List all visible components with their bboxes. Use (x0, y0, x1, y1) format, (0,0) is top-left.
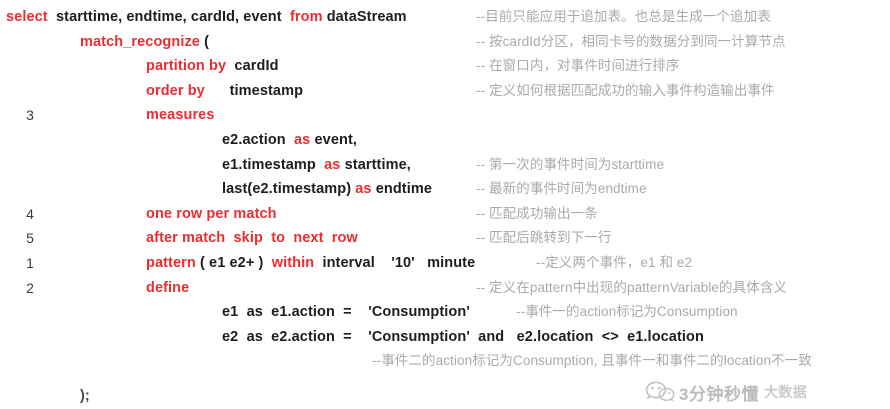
sql-identifier: dataStream (323, 9, 407, 25)
code-text: measures (146, 103, 215, 127)
sql-identifier: e2.action (222, 132, 294, 148)
sql-comment: -- 最新的事件时间为endtime (476, 177, 647, 201)
code-line[interactable]: e1.timestamp as starttime,-- 第一次的事件时间为st… (0, 153, 890, 177)
sql-keyword: within (272, 255, 314, 271)
sql-identifier: endtime (372, 181, 432, 197)
sql-keyword: order by (146, 83, 205, 99)
code-line[interactable]: 5after match skip to next row-- 匹配后跳转到下一… (0, 226, 890, 250)
code-text: order by timestamp (146, 79, 303, 103)
code-text: e2 as e2.action = 'Consumption' and e2.l… (222, 325, 704, 349)
sql-keyword: pattern (146, 255, 196, 271)
code-text: select starttime, endtime, cardId, event… (6, 5, 407, 29)
sql-keyword: as (355, 181, 371, 197)
code-screenshot: select starttime, endtime, cardId, event… (0, 0, 890, 409)
sql-keyword: match_recognize (80, 34, 200, 50)
sql-identifier: e2 as e2.action = 'Consumption' and e2.l… (222, 329, 704, 345)
sql-keyword: define (146, 280, 189, 296)
sql-keyword: partition by (146, 58, 226, 74)
code-text: after match skip to next row (146, 226, 358, 250)
line-number: 5 (0, 226, 34, 250)
code-line[interactable]: select starttime, endtime, cardId, event… (0, 5, 890, 29)
code-text: e1.timestamp as starttime, (222, 153, 411, 177)
sql-identifier: interval '10' minute (314, 255, 475, 271)
sql-keyword: after match skip to next row (146, 230, 358, 246)
sql-identifier: ( e1 e2+ ) (196, 255, 272, 271)
code-text: e1 as e1.action = 'Consumption' (222, 300, 470, 324)
sql-comment: -- 匹配成功输出一条 (476, 202, 598, 226)
sql-comment: -- 第一次的事件时间为starttime (476, 153, 664, 177)
sql-identifier: event, (310, 132, 357, 148)
sql-comment: --事件二的action标记为Consumption, 且事件一和事件二的loc… (372, 349, 812, 373)
sql-identifier: starttime, endtime, cardId, event (48, 9, 290, 25)
code-line[interactable]: e2 as e2.action = 'Consumption' and e2.l… (0, 325, 890, 349)
sql-comment: -- 匹配后跳转到下一行 (476, 226, 611, 250)
sql-keyword: select (6, 9, 48, 25)
code-line[interactable]: order by timestamp-- 定义如何根据匹配成功的输入事件构造输出… (0, 79, 890, 103)
sql-comment: --事件一的action标记为Consumption (516, 300, 738, 324)
sql-comment: -- 定义在pattern中出现的patternVariable的具体含义 (476, 276, 787, 300)
code-text: e2.action as event, (222, 128, 357, 152)
code-line[interactable]: partition by cardId-- 在窗口内，对事件时间进行排序 (0, 54, 890, 78)
sql-keyword: as (294, 132, 310, 148)
sql-identifier: last(e2.timestamp) (222, 181, 355, 197)
code-text: last(e2.timestamp) as endtime (222, 177, 432, 201)
code-text: define (146, 276, 189, 300)
code-line[interactable]: match_recognize (-- 按cardId分区，相同卡号的数据分到同… (0, 30, 890, 54)
sql-comment: --定义两个事件，e1 和 e2 (536, 251, 692, 275)
line-number: 1 (0, 251, 34, 275)
code-editor[interactable]: select starttime, endtime, cardId, event… (0, 0, 890, 409)
line-number: 2 (0, 276, 34, 300)
sql-identifier: starttime, (340, 157, 410, 173)
code-line[interactable]: e1 as e1.action = 'Consumption'--事件一的act… (0, 300, 890, 324)
sql-keyword: one row per match (146, 206, 277, 222)
sql-comment: -- 定义如何根据匹配成功的输入事件构造输出事件 (476, 79, 775, 103)
line-number: 3 (0, 103, 34, 127)
code-line[interactable]: 1pattern ( e1 e2+ ) within interval '10'… (0, 251, 890, 275)
code-text: match_recognize ( (80, 30, 209, 54)
sql-identifier: e1.timestamp (222, 157, 324, 173)
closing-paren: ); (80, 388, 90, 404)
code-line[interactable]: 3measures (0, 103, 890, 127)
sql-keyword: measures (146, 107, 215, 123)
sql-keyword: as (324, 157, 340, 173)
sql-identifier: timestamp (205, 83, 303, 99)
code-text: pattern ( e1 e2+ ) within interval '10' … (146, 251, 475, 275)
code-line[interactable]: e2.action as event, (0, 128, 890, 152)
sql-comment: -- 按cardId分区，相同卡号的数据分到同一计算节点 (476, 30, 786, 54)
sql-keyword: from (290, 9, 323, 25)
sql-identifier: e1 as e1.action = 'Consumption' (222, 304, 470, 320)
code-text: one row per match (146, 202, 277, 226)
line-number: 4 (0, 202, 34, 226)
sql-comment: -- 在窗口内，对事件时间进行排序 (476, 54, 679, 78)
code-line[interactable]: 2define-- 定义在pattern中出现的patternVariable的… (0, 276, 890, 300)
sql-identifier: ( (200, 34, 209, 50)
code-text: partition by cardId (146, 54, 279, 78)
code-line[interactable]: 4one row per match-- 匹配成功输出一条 (0, 202, 890, 226)
code-line[interactable]: --事件二的action标记为Consumption, 且事件一和事件二的loc… (0, 349, 890, 373)
code-line[interactable]: last(e2.timestamp) as endtime-- 最新的事件时间为… (0, 177, 890, 201)
sql-identifier: cardId (226, 58, 278, 74)
sql-comment: --目前只能应用于追加表。也总是生成一个追加表 (476, 5, 771, 29)
